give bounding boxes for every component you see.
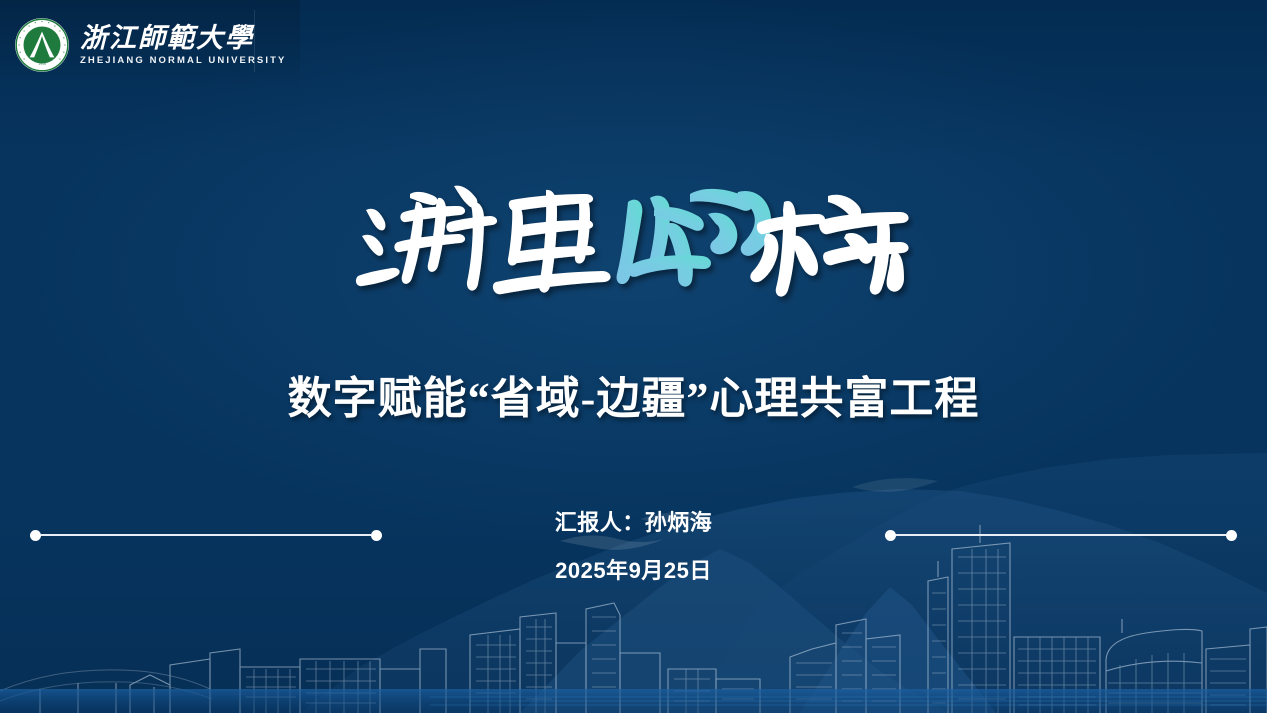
- title-char-qiao: [750, 195, 908, 297]
- title-char-xin: [616, 189, 771, 287]
- title-char-li: [492, 190, 610, 294]
- presenter-block: 汇报人：孙炳海 2025年9月25日: [0, 512, 1267, 582]
- logo-name-cn: 浙江師範大學: [80, 24, 286, 52]
- water-reflection-lines: [430, 697, 1267, 705]
- presentation-date: 2025年9月25日: [0, 560, 1267, 582]
- mountain-ridge-back: [690, 453, 1267, 713]
- presenter-name: 汇报人：孙炳海: [0, 512, 1267, 534]
- cloud-wisp-3: [852, 478, 938, 492]
- svg-text:1956: 1956: [38, 62, 46, 66]
- mountain-peak-right: [800, 587, 996, 713]
- page-title: [0, 168, 1267, 308]
- zhejiang-normal-university-seal-icon: 1956: [14, 17, 70, 73]
- city-skyline-line-art: [0, 453, 1267, 713]
- page-subtitle: 数字赋能“省域-边疆”心理共富工程: [0, 362, 1267, 426]
- university-logo: 1956 浙江師範大學 ZHEJIANG NORMAL UNIVERSITY: [14, 14, 286, 76]
- title-char-zhe: [355, 186, 496, 291]
- logo-divider: [254, 10, 255, 72]
- water-reflection-band: [0, 689, 1267, 713]
- title-slide: 1956 浙江師範大學 ZHEJIANG NORMAL UNIVERSITY: [0, 0, 1267, 713]
- title-calligraphy: [354, 168, 914, 308]
- logo-name-en: ZHEJIANG NORMAL UNIVERSITY: [80, 55, 286, 66]
- background-gradient: [0, 0, 1267, 713]
